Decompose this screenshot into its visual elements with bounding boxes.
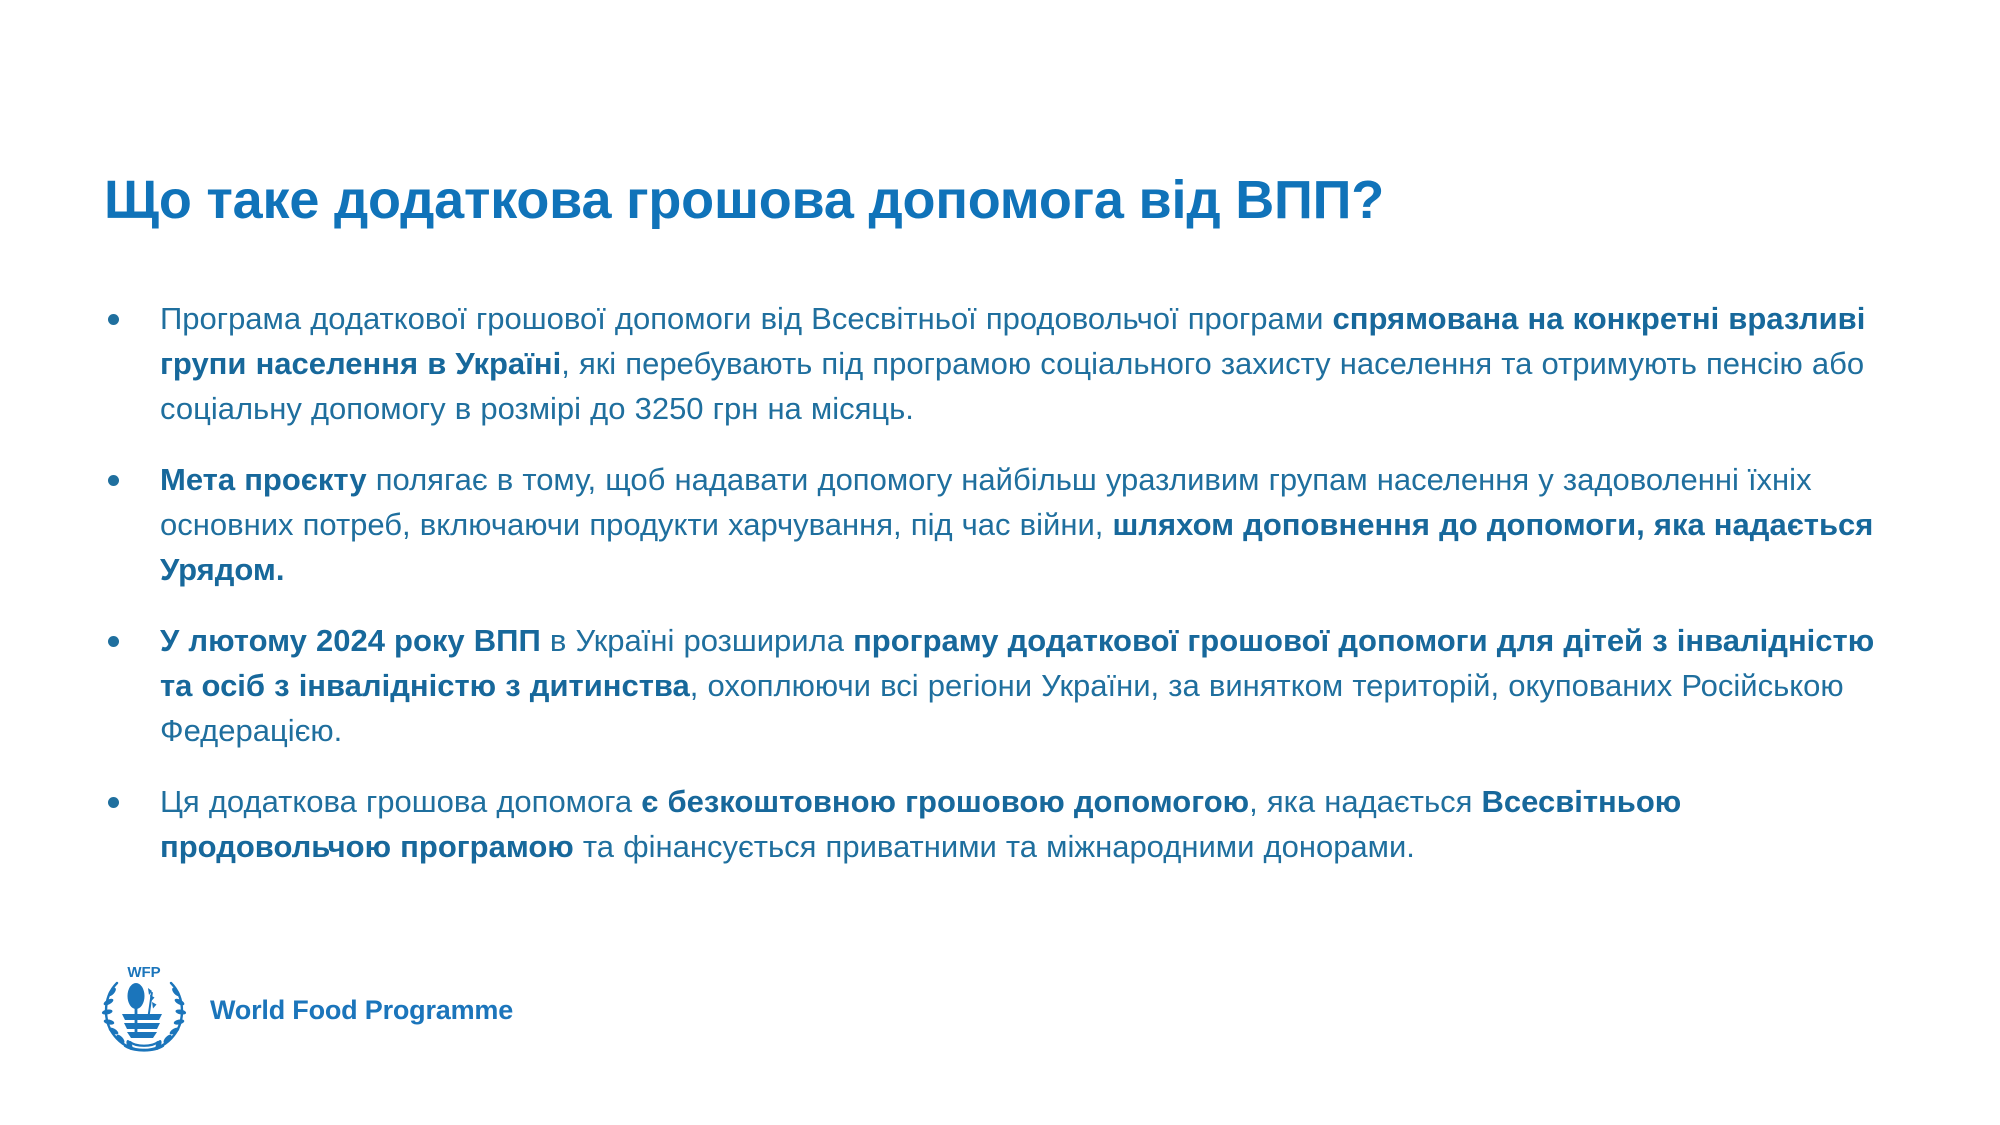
list-item: У лютому 2024 року ВПП в Україні розшири… <box>100 618 1900 753</box>
svg-text:WFP: WFP <box>127 964 160 981</box>
bullet-list: Програма додаткової грошової допомоги ві… <box>100 296 1900 869</box>
bullet-dot-icon <box>108 636 119 647</box>
page-title: Що таке додаткова грошова допомога від В… <box>104 168 1894 232</box>
list-item: Мета проєкту полягає в тому, щоб надават… <box>100 457 1900 592</box>
bullet-dot-icon <box>108 797 119 808</box>
slide-canvas: Що таке додаткова грошова допомога від В… <box>0 0 2000 1125</box>
list-item: Програма додаткової грошової допомоги ві… <box>100 296 1900 431</box>
wfp-wordmark-text: World Food Programme <box>210 995 513 1026</box>
bullet-text: Мета проєкту полягає в тому, щоб надават… <box>160 457 1900 592</box>
bullet-dot-icon <box>108 475 119 486</box>
wfp-wreath-wheat-icon: WFP <box>92 962 196 1058</box>
bullet-text: У лютому 2024 року ВПП в Україні розшири… <box>160 618 1900 753</box>
list-item: Ця додаткова грошова допомога є безкошто… <box>100 779 1900 869</box>
wfp-logo: WFP <box>92 962 513 1058</box>
bullet-text: Ця додаткова грошова допомога є безкошто… <box>160 779 1900 869</box>
bullet-dot-icon <box>108 314 119 325</box>
bullet-text: Програма додаткової грошової допомоги ві… <box>160 296 1900 431</box>
